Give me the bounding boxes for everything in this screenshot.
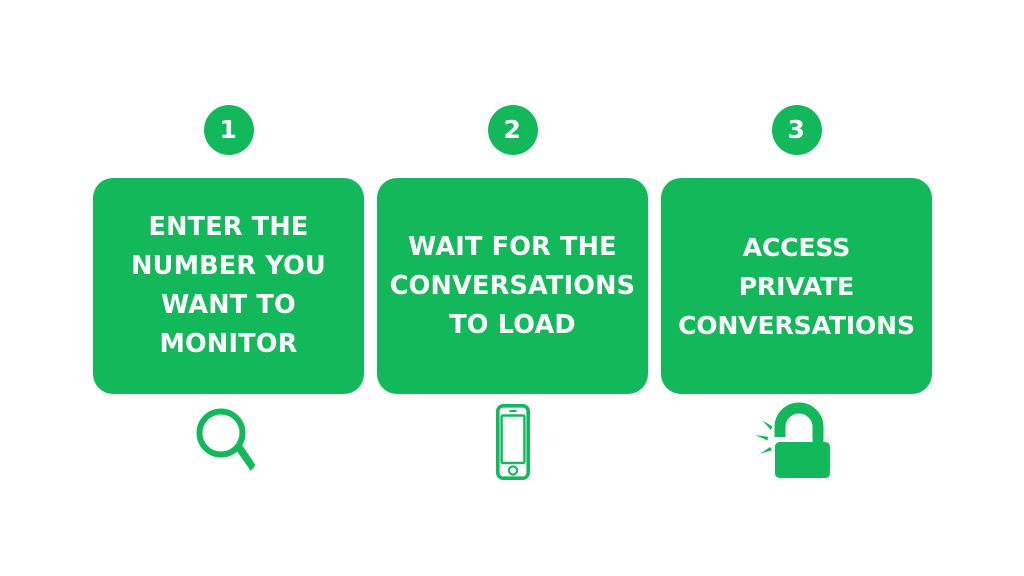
step-card-3: Access private conversations	[661, 178, 932, 394]
step-card-label-1: Enter the number you want to monitor	[131, 208, 326, 364]
step-number-badge-1: 1	[204, 105, 254, 155]
magnifier-icon	[193, 404, 265, 480]
step-2: 2 Wait for the conversations to load	[377, 105, 648, 478]
step-icon-1	[93, 402, 364, 482]
step-number-badge-3: 3	[772, 105, 822, 155]
step-icon-2	[377, 402, 648, 482]
step-number-2: 2	[504, 117, 522, 142]
step-icon-3	[661, 402, 932, 482]
step-card-2: Wait for the conversations to load	[377, 178, 648, 394]
padlock-spark-lines	[755, 421, 772, 454]
step-3: 3 Access private conversations	[661, 105, 932, 478]
padlock-shackle	[780, 408, 818, 443]
step-card-label-3: Access private conversations	[678, 228, 915, 345]
unlocked-padlock-icon	[750, 403, 844, 481]
smartphone-icon	[496, 404, 530, 480]
step-card-1: Enter the number you want to monitor	[93, 178, 364, 394]
step-number-1: 1	[220, 117, 238, 142]
infographic-canvas: 1 Enter the number you want to monitor 2…	[0, 0, 1024, 576]
step-1: 1 Enter the number you want to monitor	[93, 105, 364, 478]
step-number-3: 3	[788, 117, 806, 142]
step-number-badge-2: 2	[488, 105, 538, 155]
padlock-body	[775, 442, 830, 478]
step-card-label-2: Wait for the conversations to load	[390, 228, 636, 345]
